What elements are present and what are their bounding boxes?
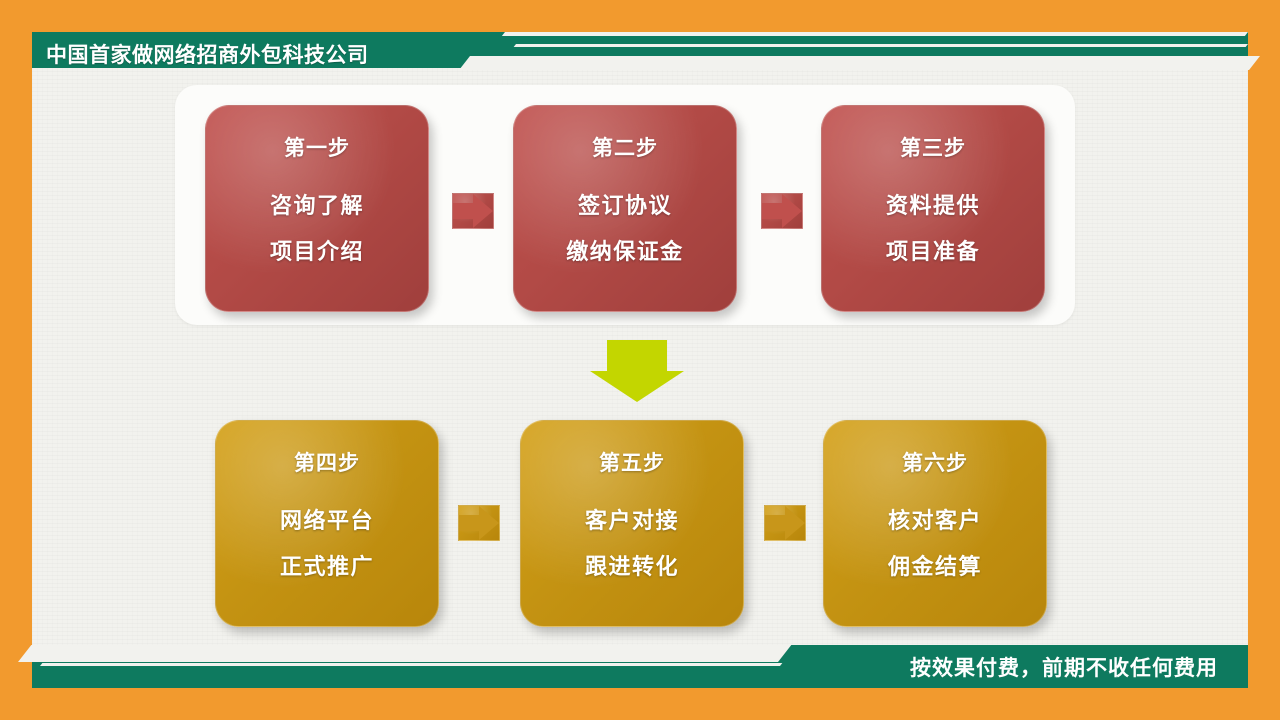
step-card-2[interactable]: 第二步 签订协议 缴纳保证金 xyxy=(513,105,737,312)
arrow-step1-to-step2-icon xyxy=(452,193,494,229)
header-banner-stripe-2 xyxy=(514,44,1248,47)
step-2-title: 第二步 xyxy=(592,132,658,162)
step-6-line-1: 核对客户 xyxy=(888,503,982,535)
step-4-line-1: 网络平台 xyxy=(280,503,374,535)
step-3-line-2: 项目准备 xyxy=(886,234,980,266)
step-1-line-2: 项目介绍 xyxy=(270,234,364,266)
step-6-title: 第六步 xyxy=(902,447,968,477)
header-banner-cut xyxy=(459,56,1260,70)
step-1-title: 第一步 xyxy=(284,132,350,162)
step-4-line-2: 正式推广 xyxy=(280,549,374,581)
step-4-title: 第四步 xyxy=(294,447,360,477)
step-2-line-1: 签订协议 xyxy=(578,188,672,220)
step-card-1[interactable]: 第一步 咨询了解 项目介绍 xyxy=(205,105,429,312)
step-5-line-1: 客户对接 xyxy=(585,503,679,535)
footer-banner-cut xyxy=(18,645,791,662)
step-6-line-2: 佣金结算 xyxy=(888,549,982,581)
step-3-line-1: 资料提供 xyxy=(886,188,980,220)
arrow-step3-to-step4-icon xyxy=(590,340,684,402)
step-3-title: 第三步 xyxy=(900,132,966,162)
footer-text: 按效果付费，前期不收任何费用 xyxy=(910,652,1218,682)
step-1-line-1: 咨询了解 xyxy=(270,188,364,220)
footer-banner-stripe xyxy=(40,663,782,666)
page-title: 中国首家做网络招商外包科技公司 xyxy=(46,39,369,69)
step-5-line-2: 跟进转化 xyxy=(585,549,679,581)
arrow-step2-to-step3-icon xyxy=(761,193,803,229)
slide: 中国首家做网络招商外包科技公司 第一步 咨询了解 项目介绍 第二步 签订协议 缴… xyxy=(0,0,1280,720)
arrow-step5-to-step6-icon xyxy=(764,505,806,541)
step-5-title: 第五步 xyxy=(599,447,665,477)
step-card-5[interactable]: 第五步 客户对接 跟进转化 xyxy=(520,420,744,627)
step-card-6[interactable]: 第六步 核对客户 佣金结算 xyxy=(823,420,1047,627)
step-card-3[interactable]: 第三步 资料提供 项目准备 xyxy=(821,105,1045,312)
arrow-step4-to-step5-icon xyxy=(458,505,500,541)
step-2-line-2: 缴纳保证金 xyxy=(566,234,684,266)
header-banner-stripe-1 xyxy=(502,32,1248,36)
step-card-4[interactable]: 第四步 网络平台 正式推广 xyxy=(215,420,439,627)
